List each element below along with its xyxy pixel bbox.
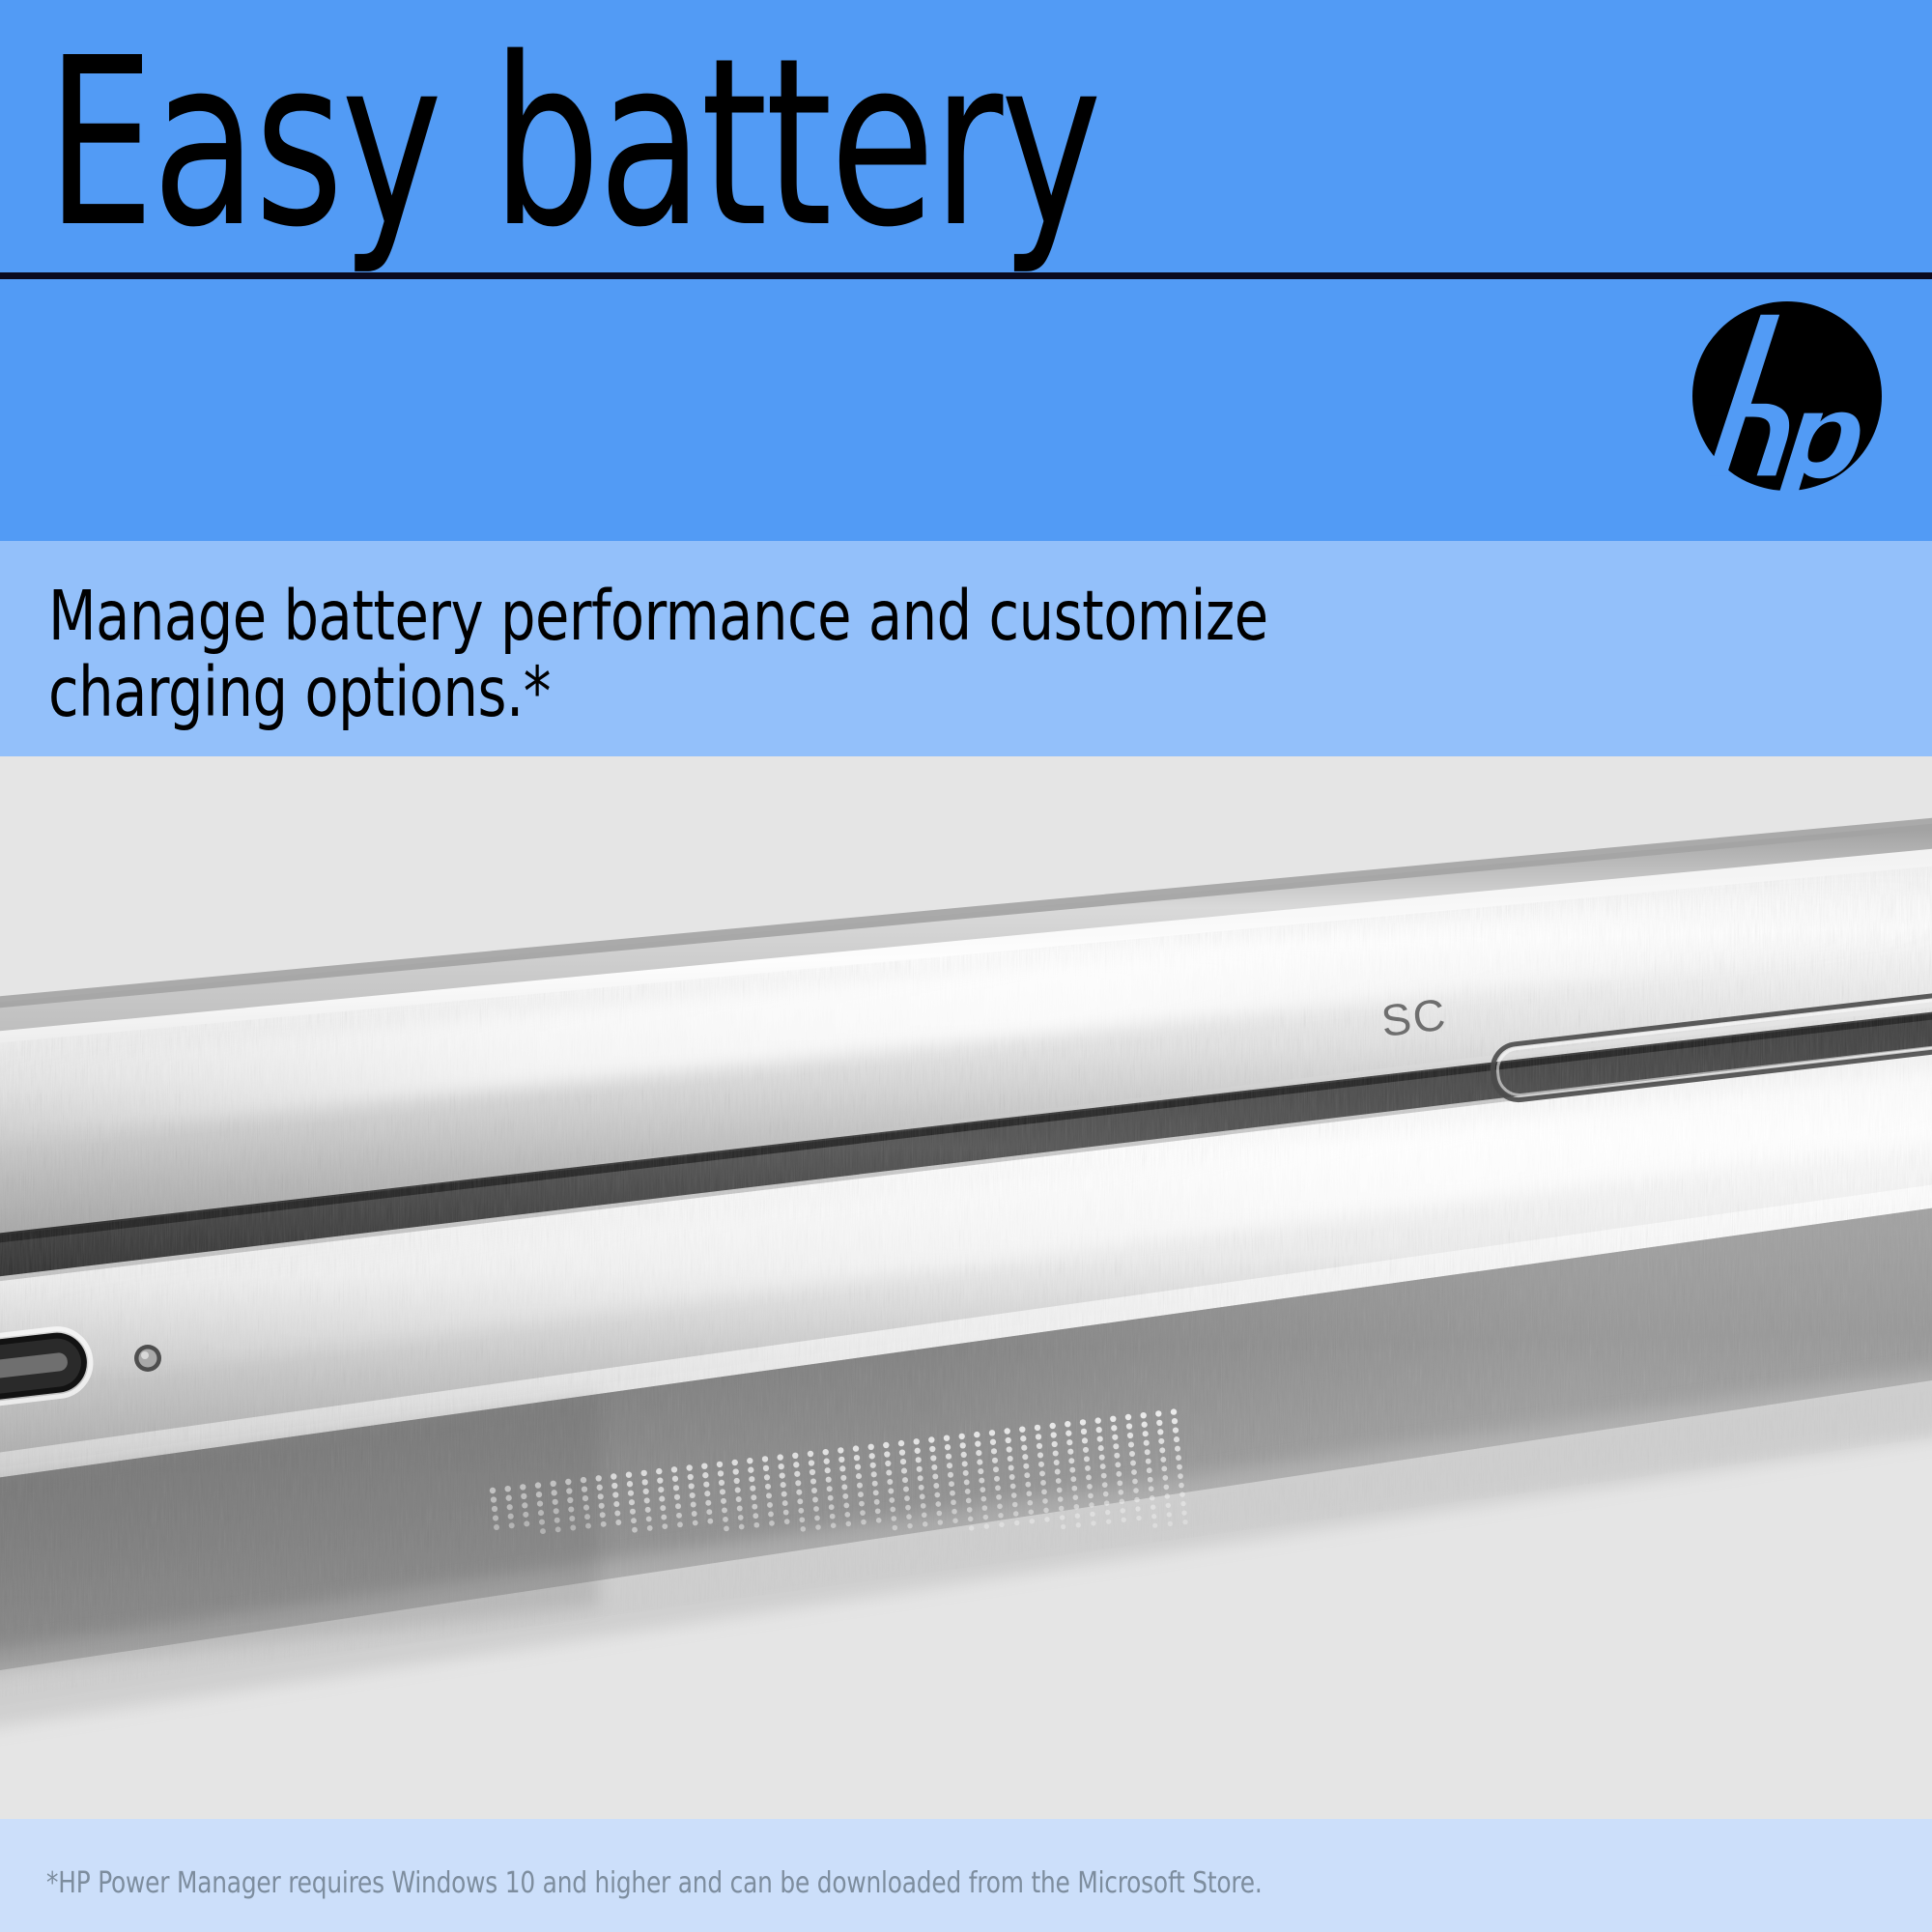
laptop-product-image: SC bbox=[0, 756, 1932, 1819]
subtitle-text: Manage battery performance and customize… bbox=[48, 578, 1457, 730]
footnote-text: *HP Power Manager requires Windows 10 an… bbox=[46, 1867, 1263, 1900]
smart-card-label: SC bbox=[1378, 988, 1449, 1045]
status-led-indicator bbox=[134, 1345, 161, 1372]
headline-band-bottom: management bbox=[0, 279, 1932, 541]
subtitle-band: Manage battery performance and customize… bbox=[0, 541, 1932, 756]
hp-logo-icon bbox=[1692, 301, 1882, 491]
marketing-tile: Easy battery management Manage battery p… bbox=[0, 0, 1932, 1932]
footnote-band: *HP Power Manager requires Windows 10 an… bbox=[0, 1819, 1932, 1932]
headline-band-top: Easy battery bbox=[0, 0, 1932, 272]
headline-divider-rule bbox=[0, 272, 1932, 279]
headline-line-1: Easy battery bbox=[46, 27, 1099, 259]
product-photo-band: SC bbox=[0, 756, 1932, 1819]
